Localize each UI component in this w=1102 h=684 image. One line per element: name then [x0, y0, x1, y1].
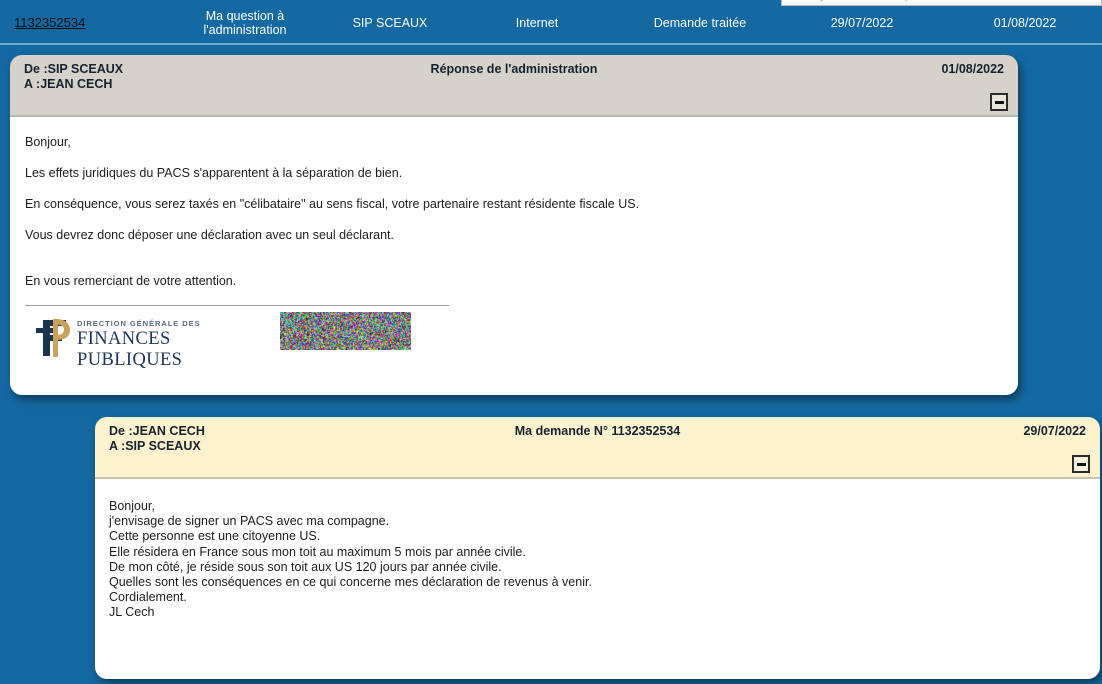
- dgfip-logo-line1: DIRECTION GÉNÉRALE DES: [77, 319, 275, 328]
- noise-image-block: [280, 312, 411, 350]
- request-date: 29/07/2022: [1023, 424, 1086, 438]
- response-paragraph: Bonjour,: [25, 135, 998, 150]
- response-message-body: Bonjour, Les effets juridiques du PACS s…: [10, 117, 1018, 395]
- signature-row: DIRECTION GÉNÉRALE DES FINANCES PUBLIQUE…: [10, 315, 1018, 361]
- request-subject: Ma demande N° 1132352534: [95, 424, 1100, 438]
- dgfip-logo-line2: FINANCES PUBLIQUES: [77, 329, 275, 371]
- response-paragraph: En conséquence, vous serez taxés en "cél…: [25, 197, 998, 212]
- request-summary-row: 1132352534 Ma question à l'administratio…: [0, 6, 1102, 40]
- minimize-dash: [995, 101, 1004, 104]
- dgfip-logo: DIRECTION GÉNÉRALE DES FINANCES PUBLIQUE…: [25, 315, 275, 360]
- response-date: 01/08/2022: [941, 62, 1004, 76]
- response-paragraph: Les effets juridiques du PACS s'apparent…: [25, 166, 998, 181]
- header-divider: [0, 43, 1102, 45]
- request-body-text: Bonjour, j'envisage de signer un PACS av…: [109, 499, 1100, 621]
- signature-divider: [25, 305, 449, 306]
- summary-cell-status: Demande traitée: [630, 6, 770, 40]
- response-paragraph: En vous remerciant de votre attention.: [25, 274, 998, 289]
- response-message-header: De :SIP SCEAUX A :JEAN CECH Réponse de l…: [10, 55, 1018, 117]
- request-message-header: De :JEAN CECH A :SIP SCEAUX Ma demande N…: [95, 417, 1100, 479]
- summary-cell-service: SIP SCEAUX: [320, 6, 460, 40]
- response-message-card: De :SIP SCEAUX A :JEAN CECH Réponse de l…: [10, 55, 1018, 395]
- dgfip-monogram-icon: [33, 316, 73, 360]
- summary-cell-date-sent: 29/07/2022: [792, 6, 932, 40]
- response-paragraph: Vous devrez donc déposer une déclaration…: [25, 228, 998, 243]
- response-subject: Réponse de l'administration: [10, 62, 1018, 76]
- send-arrow-icon: ➤: [1087, 0, 1097, 3]
- request-id-link[interactable]: 1132352534: [14, 16, 85, 30]
- dgfip-logo-text: DIRECTION GÉNÉRALE DES FINANCES PUBLIQUE…: [77, 319, 275, 371]
- clipped-top-bar-text: merci, je vous remercie pour votre retou…: [788, 0, 986, 1]
- minimize-icon[interactable]: [990, 93, 1008, 111]
- request-message-body: Bonjour, j'envisage de signer un PACS av…: [95, 479, 1100, 679]
- summary-cell-date-answered: 01/08/2022: [955, 6, 1095, 40]
- minimize-icon[interactable]: [1072, 455, 1090, 473]
- summary-cell-channel: Ma question à l'administration: [175, 6, 315, 40]
- summary-cell-medium: Internet: [467, 6, 607, 40]
- summary-cell-request-id: 1132352534: [14, 6, 154, 40]
- minimize-dash: [1077, 463, 1086, 466]
- request-message-card: De :JEAN CECH A :SIP SCEAUX Ma demande N…: [95, 417, 1100, 679]
